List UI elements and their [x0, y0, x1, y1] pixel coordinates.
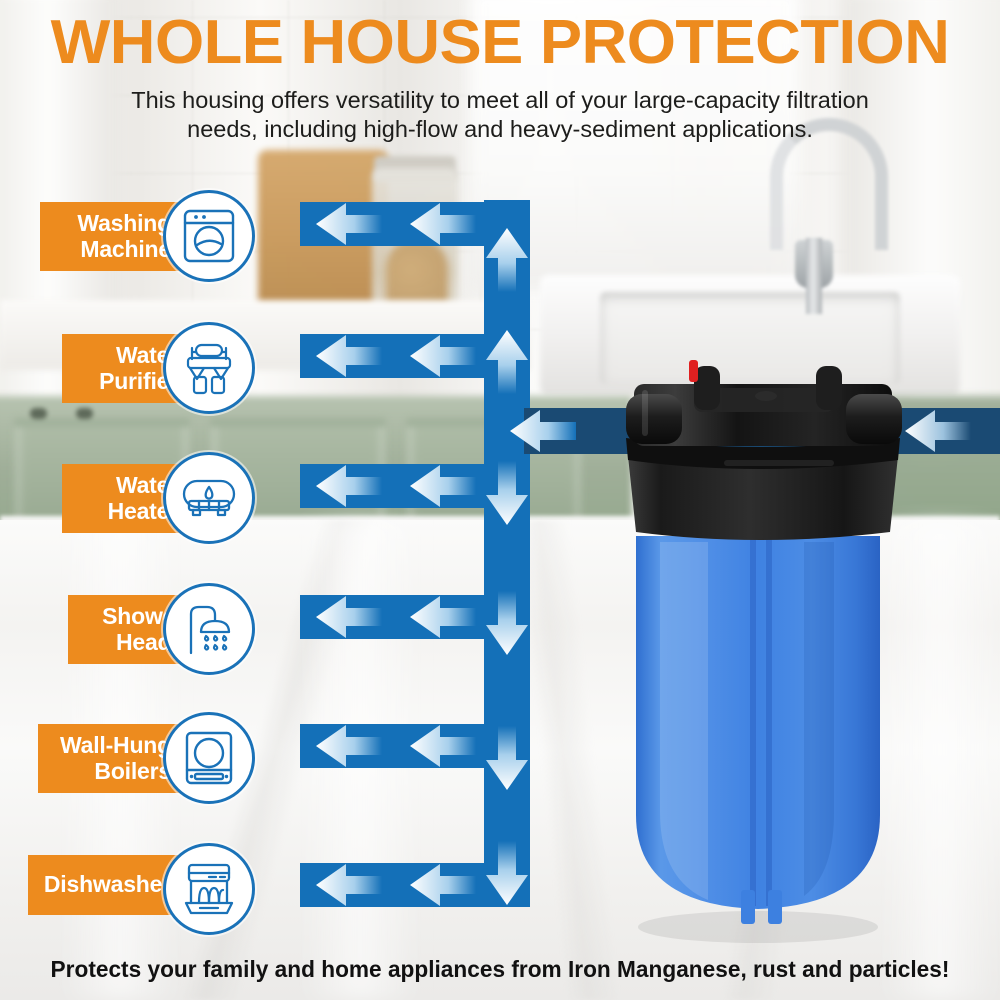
sump-foot	[768, 890, 782, 924]
appliance-icon-badge	[163, 190, 255, 282]
cap-highlight	[642, 390, 648, 436]
product-shadow	[638, 911, 878, 943]
appliance-row: Shower Heads	[0, 583, 320, 675]
washing-machine-icon	[180, 207, 238, 265]
page-subtitle: This housing offers versatility to meet …	[110, 86, 890, 144]
wall-hung-boiler-icon	[180, 729, 238, 787]
big-blue-filter-housing	[598, 360, 928, 960]
appliance-label-dishwasher[interactable]: Dishwasher	[28, 855, 185, 915]
collar-highlight	[724, 460, 834, 466]
pressure-relief-button[interactable]	[689, 360, 698, 382]
main-trunk-pipe	[484, 200, 530, 907]
outlet-port	[626, 394, 682, 444]
water-purifier-icon	[180, 339, 238, 397]
appliance-row: Wall-Hung Boilers	[0, 712, 320, 804]
footer-claim: Protects your family and home appliances…	[8, 955, 993, 983]
mounting-lug	[816, 366, 842, 410]
sump-shading	[804, 542, 834, 896]
appliance-icon-badge	[163, 583, 255, 675]
appliance-row: Water Purifier	[0, 322, 320, 414]
appliance-row: Water Heater	[0, 452, 320, 544]
appliance-icon-badge	[163, 452, 255, 544]
inlet-port	[846, 394, 902, 444]
appliance-icon-badge	[163, 712, 255, 804]
appliance-icon-badge	[163, 322, 255, 414]
appliance-row: Washing Machine	[0, 190, 320, 282]
sump-foot	[741, 890, 755, 924]
water-heater-icon	[180, 469, 238, 527]
cap-vent-screw	[755, 391, 777, 401]
appliance-row: Dishwasher	[0, 843, 320, 935]
page-title: WHOLE HOUSE PROTECTION	[0, 12, 1000, 74]
appliance-icon-badge	[163, 843, 255, 935]
dishwasher-icon	[180, 860, 238, 918]
shower-head-icon	[180, 600, 238, 658]
sump-highlight	[660, 542, 708, 900]
